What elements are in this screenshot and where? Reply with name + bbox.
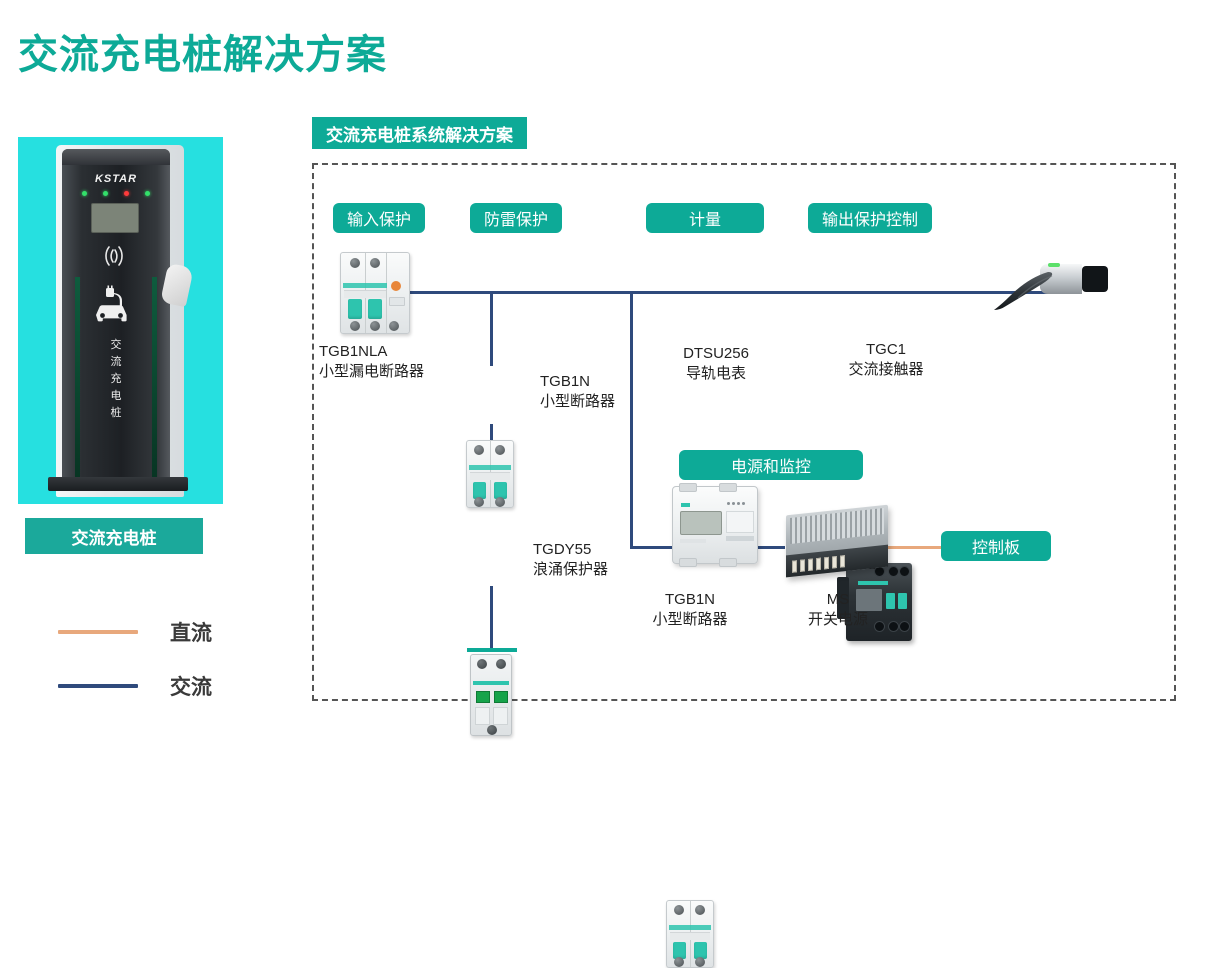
rcbo-terminal-5 — [389, 321, 399, 331]
mcb-top-terminal-4 — [495, 497, 505, 507]
led-green-2 — [103, 191, 108, 196]
mcb-top-terminal-3 — [474, 497, 484, 507]
mcb-top-label-band — [469, 465, 511, 470]
meter-din-clip-bottom-2 — [719, 558, 737, 567]
wire-ac-main-bus — [408, 291, 1068, 294]
contactor-terminal-3 — [899, 566, 910, 577]
mcb-bottom-rating-strip — [670, 932, 710, 940]
tag-control-board[interactable]: 控制板 — [941, 531, 1051, 561]
legend-label-ac: 交流 — [170, 671, 212, 701]
meter-led-4 — [742, 502, 745, 505]
charging-gun-connector — [990, 258, 1110, 328]
rcbo-terminal-2 — [370, 258, 380, 268]
contactor-test-button-1[interactable] — [886, 593, 895, 609]
led-green-3 — [145, 191, 150, 196]
psu-terminal-6 — [832, 556, 837, 569]
spd-terminal-1 — [477, 659, 487, 669]
spd-text-panel-1 — [475, 707, 490, 725]
device-rcbo-tgb1nla — [340, 252, 410, 334]
diagram-frame — [312, 163, 1176, 701]
spd-text-panel-2 — [493, 707, 508, 725]
diagram-banner: 交流充电桩系统解决方案 — [312, 117, 527, 149]
wire-ac-branch-into-mcb — [630, 546, 675, 549]
label-rcbo: TGB1NLA 小型漏电断路器 — [319, 342, 424, 382]
meter-din-clip-top-2 — [719, 483, 737, 492]
legend-item-dc: 直流 — [58, 617, 212, 647]
charging-pile-top-cap — [62, 149, 170, 165]
psu-terminal-1 — [792, 560, 797, 573]
tag-metering[interactable]: 计量 — [646, 203, 764, 233]
led-red — [124, 191, 129, 196]
tag-input-protection[interactable]: 输入保护 — [333, 203, 425, 233]
label-spd-name: 浪涌保护器 — [533, 561, 608, 578]
wire-ac-spd-to-ground — [490, 586, 493, 648]
device-meter-dtsu256 — [672, 486, 758, 564]
contactor-test-button-2[interactable] — [898, 593, 907, 609]
spd-status-window-2 — [494, 691, 508, 703]
mcb-top-terminal-1 — [474, 445, 484, 455]
mcb-bottom-terminal-2 — [695, 905, 705, 915]
brand-label: KSTAR — [62, 173, 170, 185]
rcbo-terminal-3 — [350, 321, 360, 331]
label-contactor-name: 交流接触器 — [848, 361, 923, 378]
contactor-terminal-2 — [888, 566, 899, 577]
meter-brand-mark — [681, 503, 690, 507]
meter-din-clip-top-1 — [679, 483, 697, 492]
label-mcb-top-model: TGB1N — [540, 373, 590, 390]
psu-terminal-2 — [800, 559, 805, 572]
ground-bar-1 — [467, 648, 517, 652]
mcb-top-terminal-2 — [495, 445, 505, 455]
psu-vent-grille — [790, 508, 884, 544]
mcb-bottom-terminal-3 — [674, 957, 684, 967]
wire-dc-psu-to-control-board — [888, 546, 944, 549]
mcb-bottom-label-band — [669, 925, 711, 930]
spd-status-window-1 — [476, 691, 490, 703]
psu-terminal-4 — [816, 558, 821, 571]
label-contactor-model: TGC1 — [866, 341, 906, 358]
led-indicator-row — [82, 191, 150, 196]
psu-terminal-7 — [840, 555, 845, 568]
label-mcb-bottom-name: 小型断路器 — [652, 611, 727, 628]
device-spd-tgdy55 — [470, 654, 512, 736]
label-mcb-bottom-model: TGB1N — [665, 591, 715, 608]
contactor-terminal-6 — [899, 621, 910, 632]
display-screen — [91, 203, 139, 233]
label-mcb-top-name: 小型断路器 — [540, 393, 615, 410]
meter-din-clip-bottom-1 — [679, 558, 697, 567]
device-psu-ms — [786, 510, 888, 572]
ev-charging-icon — [88, 285, 146, 325]
rcbo-terminal-1 — [350, 258, 360, 268]
psu-chassis — [786, 505, 888, 578]
legend-swatch-dc — [58, 630, 138, 634]
label-mcb-top: TGB1N 小型断路器 — [540, 372, 615, 412]
spd-bottom-terminal — [487, 725, 497, 735]
wire-ac-to-mcb-top — [490, 291, 493, 366]
mcb-bottom-terminal-1 — [674, 905, 684, 915]
meter-lcd-display — [680, 511, 722, 535]
psu-terminal-5 — [824, 557, 829, 570]
rcbo-toggle-1[interactable] — [348, 299, 362, 319]
label-contactor: TGC1 交流接触器 — [838, 340, 934, 380]
label-rcbo-model: TGB1NLA — [319, 343, 387, 360]
rcbo-pole-divider-2 — [386, 253, 387, 333]
led-green-1 — [82, 191, 87, 196]
rcbo-toggle-2[interactable] — [368, 299, 382, 319]
meter-led-row — [727, 502, 745, 505]
label-psu-name: 开关电源 — [808, 611, 868, 628]
rcbo-test-button — [391, 281, 401, 291]
tag-output-protection-control[interactable]: 输出保护控制 — [808, 203, 932, 233]
psu-terminal-3 — [808, 559, 813, 572]
mcb-top-rating-strip — [470, 472, 510, 480]
label-meter-name: 导轨电表 — [686, 365, 746, 382]
label-meter: DTSU256 导轨电表 — [672, 344, 760, 384]
label-mcb-bottom: TGB1N 小型断路器 — [642, 590, 738, 630]
product-photo: KSTAR — [18, 137, 223, 504]
wire-ac-to-bottom-branch — [630, 291, 633, 548]
meter-serial-strip — [680, 539, 706, 543]
label-spd: TGDY55 浪涌保护器 — [533, 540, 608, 580]
device-mcb-top-tgb1n — [466, 440, 514, 508]
label-spd-model: TGDY55 — [533, 541, 591, 558]
charging-pile-base — [48, 477, 188, 491]
rfid-icon — [94, 243, 134, 271]
label-meter-model: DTSU256 — [683, 345, 749, 362]
rcbo-terminal-4 — [370, 321, 380, 331]
rcbo-label-band — [343, 283, 387, 288]
meter-led-3 — [737, 502, 740, 505]
contactor-terminal-5 — [888, 621, 899, 632]
rcbo-rating-strip — [344, 290, 386, 298]
slide-root: 交流充电桩解决方案 KSTAR — [0, 0, 1213, 812]
legend-swatch-ac — [58, 684, 138, 688]
product-caption: 交流充电桩 — [25, 518, 203, 554]
legend-item-ac: 交流 — [58, 671, 212, 701]
legend-label-dc: 直流 — [170, 617, 212, 647]
pile-vertical-label: 交流充电桩 — [62, 337, 170, 422]
rcbo-window — [389, 297, 405, 306]
meter-barcode — [726, 536, 754, 541]
device-mcb-bottom-tgb1n — [666, 900, 714, 968]
label-psu-model: MS — [827, 591, 850, 608]
meter-led-2 — [732, 502, 735, 505]
meter-nameplate — [726, 511, 754, 533]
contactor-brand-band — [858, 581, 888, 585]
label-psu: MS 开关电源 — [790, 590, 886, 630]
tag-power-and-monitoring[interactable]: 电源和监控 — [679, 450, 863, 480]
label-rcbo-name: 小型漏电断路器 — [319, 363, 424, 380]
spd-brand-band — [473, 681, 509, 685]
mcb-bottom-terminal-4 — [695, 957, 705, 967]
spd-terminal-2 — [496, 659, 506, 669]
meter-led-1 — [727, 502, 730, 505]
tag-lightning-protection[interactable]: 防雷保护 — [470, 203, 562, 233]
page-title: 交流充电桩解决方案 — [18, 22, 387, 80]
